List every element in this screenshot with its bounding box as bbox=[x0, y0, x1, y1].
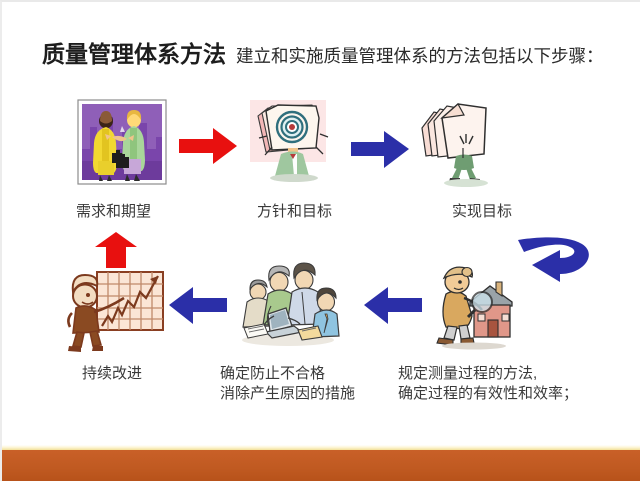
arrow-left-blue-icon-left bbox=[167, 284, 229, 328]
man-pointing-rising-chart-clipart bbox=[64, 268, 168, 354]
step-label-2: 方针和目标 bbox=[257, 202, 397, 222]
page-title: 质量管理体系方法 建立和实施质量管理体系的方法包括以下步骤： bbox=[42, 43, 632, 77]
slide-canvas: 质量管理体系方法 建立和实施质量管理体系的方法包括以下步骤： bbox=[0, 0, 640, 481]
arrow-curve-down-blue-icon bbox=[514, 230, 604, 292]
bottom-color-bar bbox=[2, 450, 640, 481]
step-label-4: 规定测量过程的方法, 确定过程的有效性和效率； bbox=[398, 364, 628, 404]
person-carrying-stack-of-documents-clipart bbox=[412, 98, 504, 188]
step-label-5: 确定防止不合格 消除产生原因的措施 bbox=[220, 364, 400, 404]
team-meeting-around-laptop-clipart bbox=[232, 258, 344, 350]
step-label-3: 实现目标 bbox=[452, 202, 592, 222]
person-holding-target-board-clipart bbox=[250, 100, 338, 186]
inspector-magnifying-glass-house-clipart bbox=[426, 258, 522, 350]
page-title-main: 质量管理体系方法 bbox=[42, 43, 226, 66]
handshake-businesspeople-clipart bbox=[76, 99, 168, 185]
step-label-1: 需求和期望 bbox=[76, 202, 196, 222]
step-label-6: 持续改进 bbox=[82, 364, 222, 384]
arrow-right-red-icon bbox=[177, 124, 239, 168]
arrow-left-blue-icon-right bbox=[362, 284, 424, 328]
arrow-up-red-icon bbox=[92, 230, 140, 270]
page-title-subtitle: 建立和实施质量管理体系的方法包括以下步骤： bbox=[236, 48, 604, 66]
arrow-right-blue-icon bbox=[349, 128, 411, 172]
